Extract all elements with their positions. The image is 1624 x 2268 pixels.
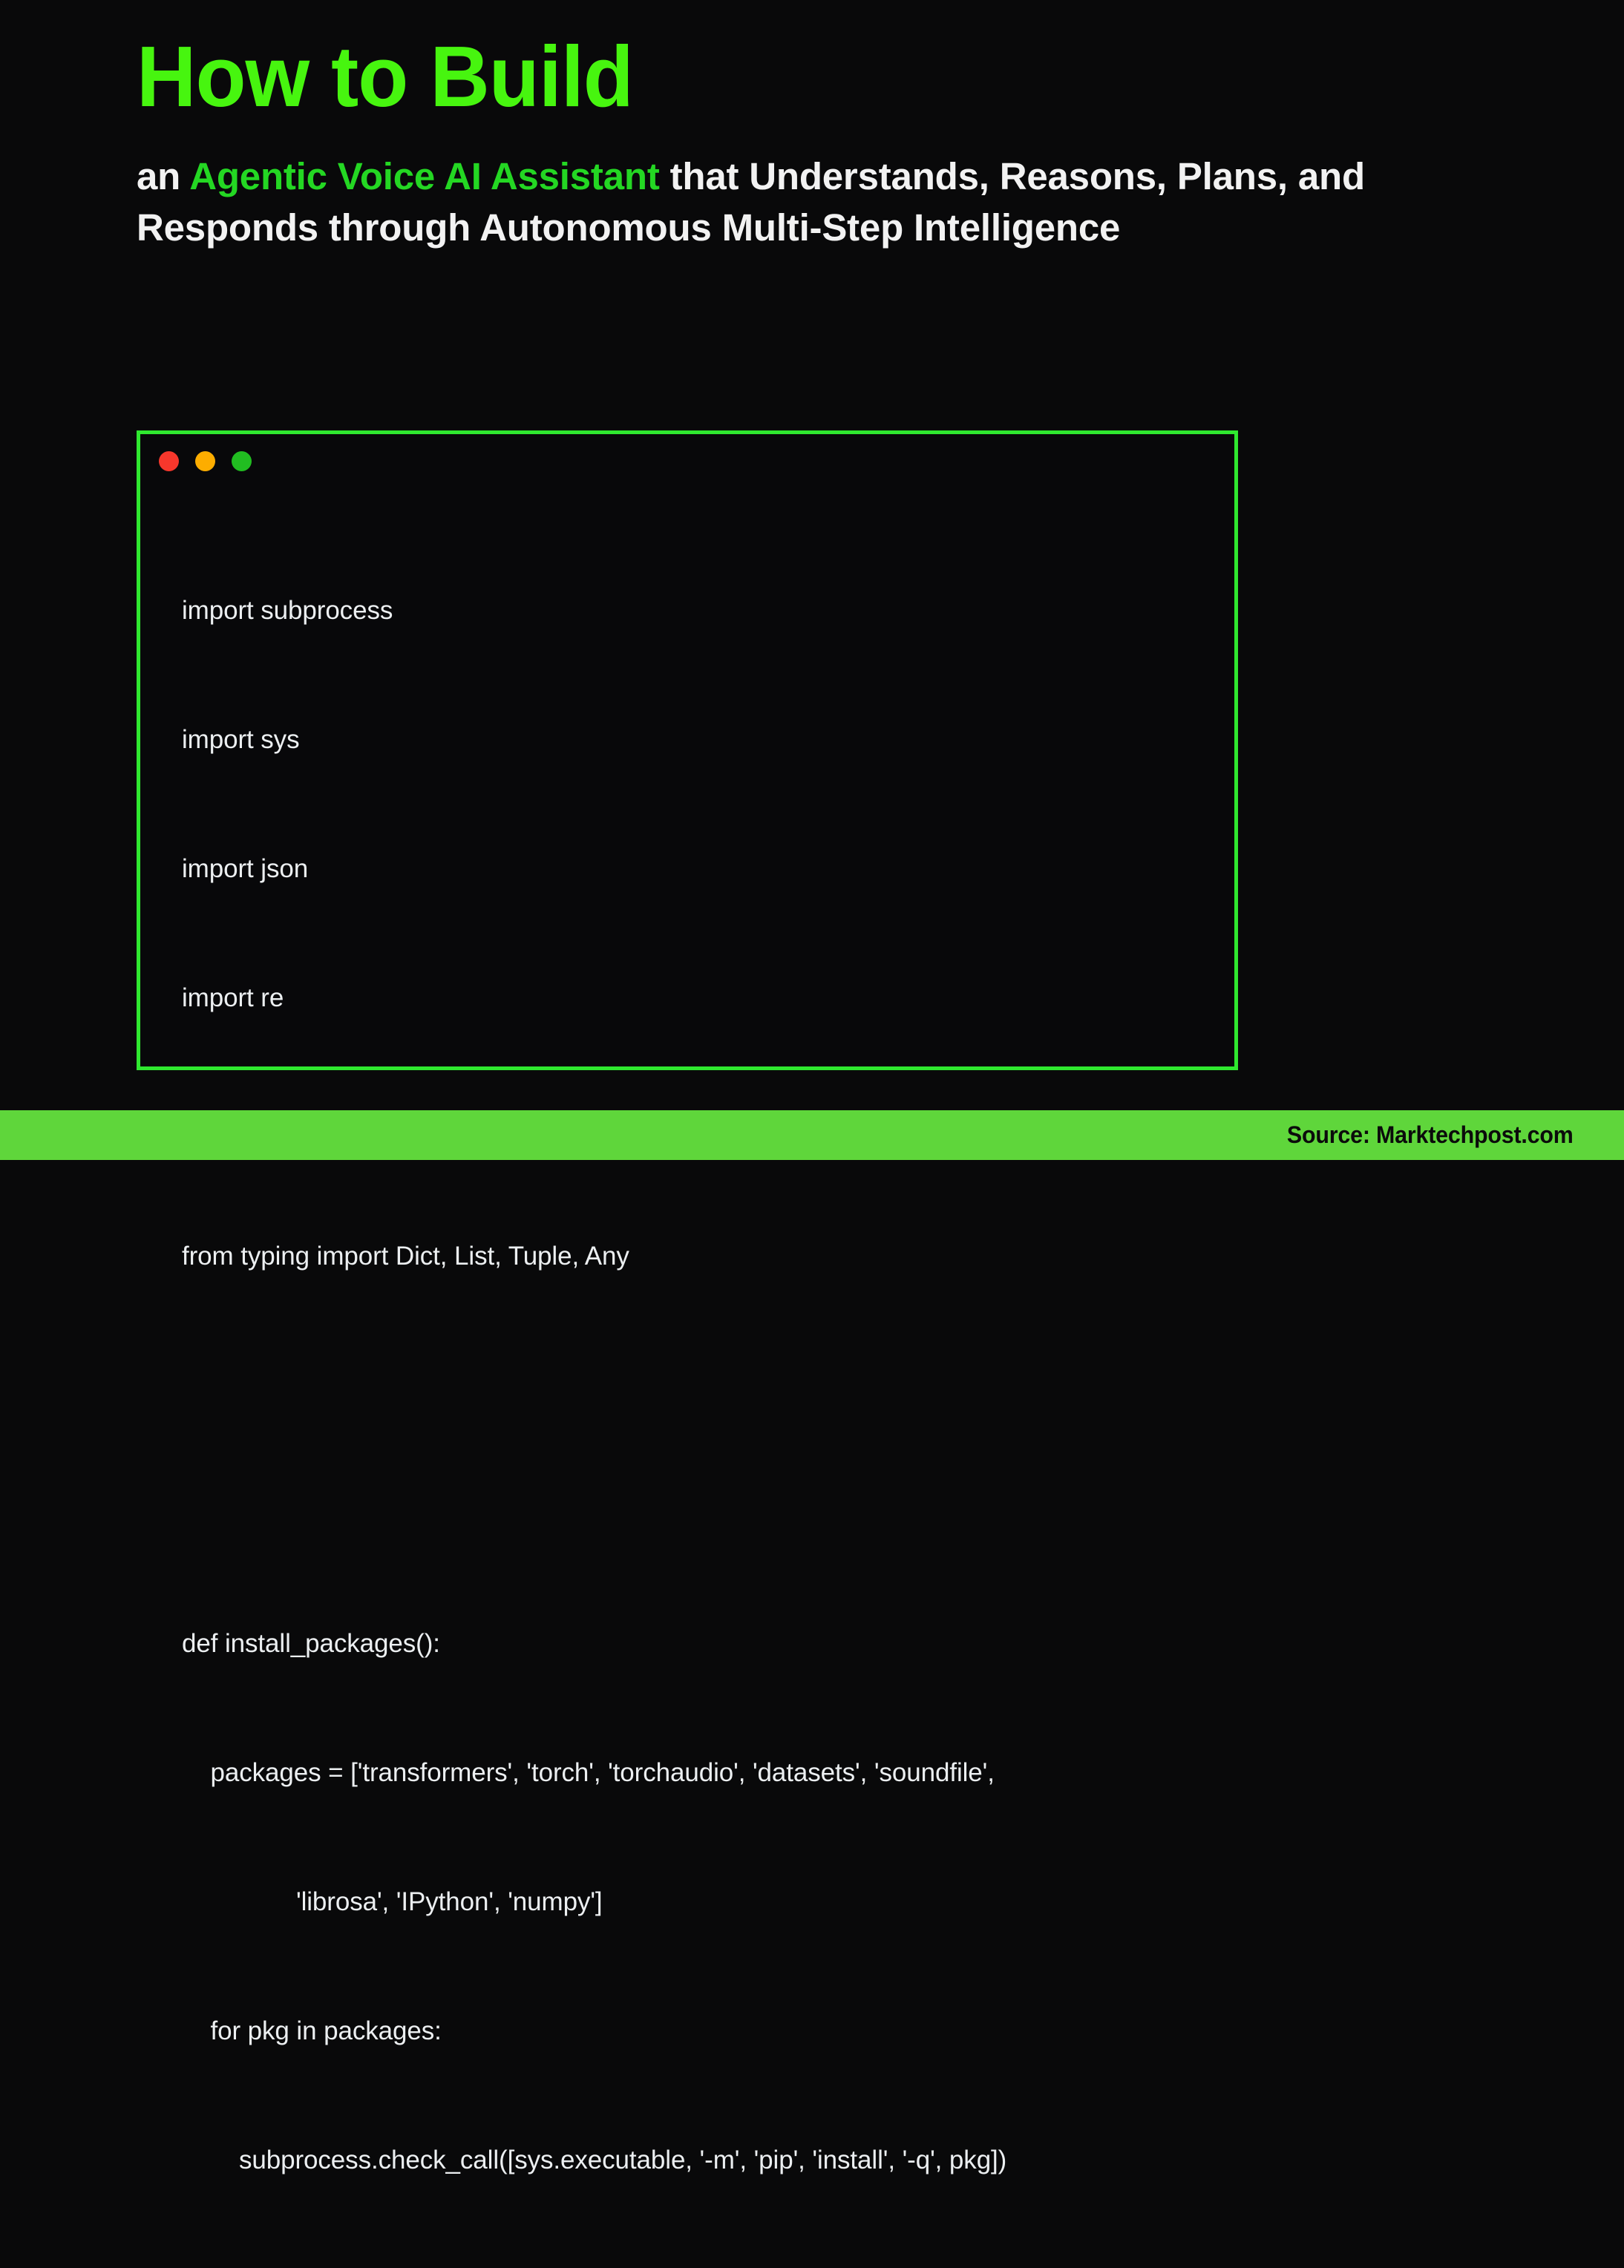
headline-block: How to Build an Agentic Voice AI Assista… [137, 31, 1569, 254]
code-line: subprocess.check_call([sys.executable, '… [182, 2139, 1221, 2182]
close-icon[interactable] [159, 451, 179, 471]
minimize-icon[interactable] [195, 451, 215, 471]
code-content: import subprocess import sys import json… [182, 503, 1221, 2268]
code-line-blank [182, 1493, 1221, 1536]
page-subtitle: an Agentic Voice AI Assistant that Under… [137, 151, 1547, 254]
code-line: import subprocess [182, 589, 1221, 632]
code-line: packages = ['transformers', 'torch', 'to… [182, 1751, 1221, 1795]
maximize-icon[interactable] [232, 451, 252, 471]
window-controls [159, 451, 252, 471]
code-line: def install_packages(): [182, 1622, 1221, 1665]
code-line: import json [182, 848, 1221, 891]
subtitle-prefix: an [137, 155, 189, 197]
subtitle-highlight: Agentic Voice AI Assistant [189, 155, 659, 197]
code-window: import subprocess import sys import json… [137, 430, 1238, 1070]
page-title: How to Build [137, 31, 1512, 122]
code-line: from typing import Dict, List, Tuple, An… [182, 1235, 1221, 1278]
code-line: for pkg in packages: [182, 2010, 1221, 2053]
footer-bar: Source: Marktechpost.com [0, 1110, 1624, 1160]
code-line: import re [182, 977, 1221, 1020]
source-attribution: Source: Marktechpost.com [1287, 1121, 1624, 1149]
code-line-blank [182, 1364, 1221, 1407]
code-line: import sys [182, 718, 1221, 761]
code-line: 'librosa', 'IPython', 'numpy'] [182, 1881, 1221, 1924]
